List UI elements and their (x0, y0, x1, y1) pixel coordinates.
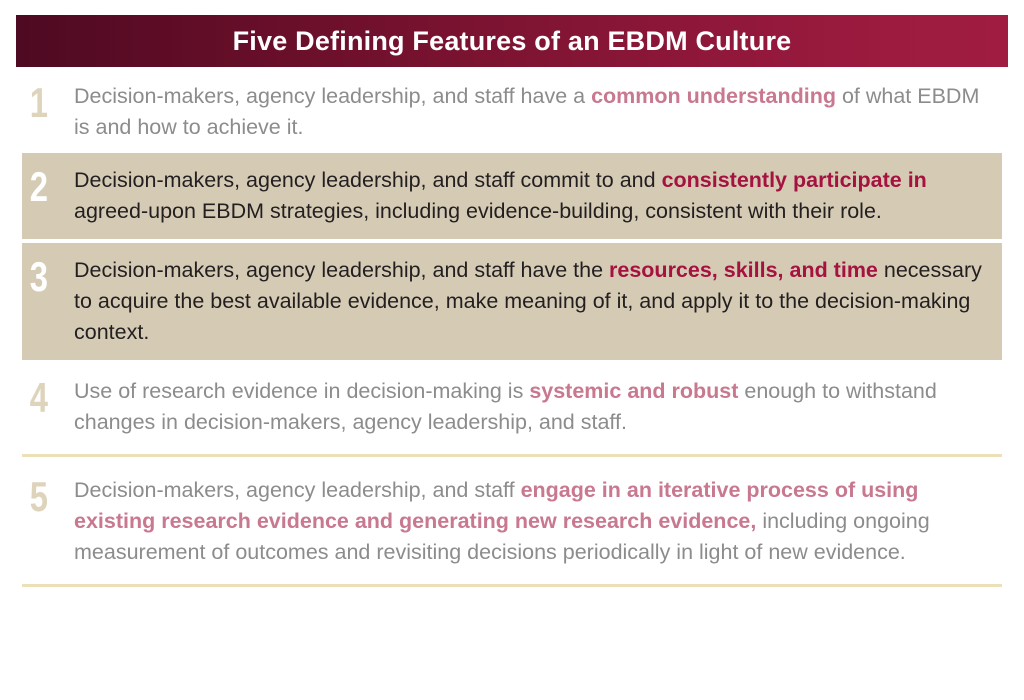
page-title: Five Defining Features of an EBDM Cultur… (233, 28, 792, 55)
feature-text-2: Decision-makers, agency leadership, and … (74, 165, 1002, 227)
feature-text-5-part-1: Decision-makers, agency leadership, and … (74, 478, 521, 502)
feature-text-2-part-3: agreed-upon EBDM strategies, including e… (74, 199, 882, 223)
feature-text-1: Decision-makers, agency leadership, and … (74, 81, 1002, 143)
header-banner: Five Defining Features of an EBDM Cultur… (16, 15, 1008, 67)
feature-row-2: 2 Decision-makers, agency leadership, an… (0, 153, 1024, 239)
feature-text-4: Use of research evidence in decision-mak… (74, 376, 1002, 438)
feature-row-5: 5 Decision-makers, agency leadership, an… (0, 457, 1024, 584)
feature-text-1-part-1: Decision-makers, agency leadership, and … (74, 84, 591, 108)
feature-highlight-3: resources, skills, and time (609, 258, 878, 282)
feature-highlight-1: common understanding (591, 84, 836, 108)
divider-bottom (22, 584, 1002, 587)
feature-text-3: Decision-makers, agency leadership, and … (74, 255, 1002, 348)
feature-number-2: 2 (22, 165, 63, 227)
feature-number-4: 4 (22, 376, 63, 438)
feature-text-2-part-1: Decision-makers, agency leadership, and … (74, 168, 662, 192)
feature-text-4-part-1: Use of research evidence in decision-mak… (74, 379, 529, 403)
feature-number-1: 1 (22, 81, 63, 143)
feature-row-4: 4 Use of research evidence in decision-m… (0, 360, 1024, 454)
feature-number-3: 3 (22, 255, 63, 348)
feature-row-1: 1 Decision-makers, agency leadership, an… (0, 67, 1024, 153)
feature-highlight-2: consistently participate in (662, 168, 927, 192)
infographic-page: Five Defining Features of an EBDM Cultur… (0, 0, 1024, 700)
feature-text-5: Decision-makers, agency leadership, and … (74, 475, 1002, 568)
feature-list: 1 Decision-makers, agency leadership, an… (0, 67, 1024, 587)
feature-highlight-4: systemic and robust (529, 379, 738, 403)
feature-row-3: 3 Decision-makers, agency leadership, an… (0, 243, 1024, 360)
feature-number-5: 5 (22, 475, 63, 568)
feature-text-3-part-1: Decision-makers, agency leadership, and … (74, 258, 609, 282)
